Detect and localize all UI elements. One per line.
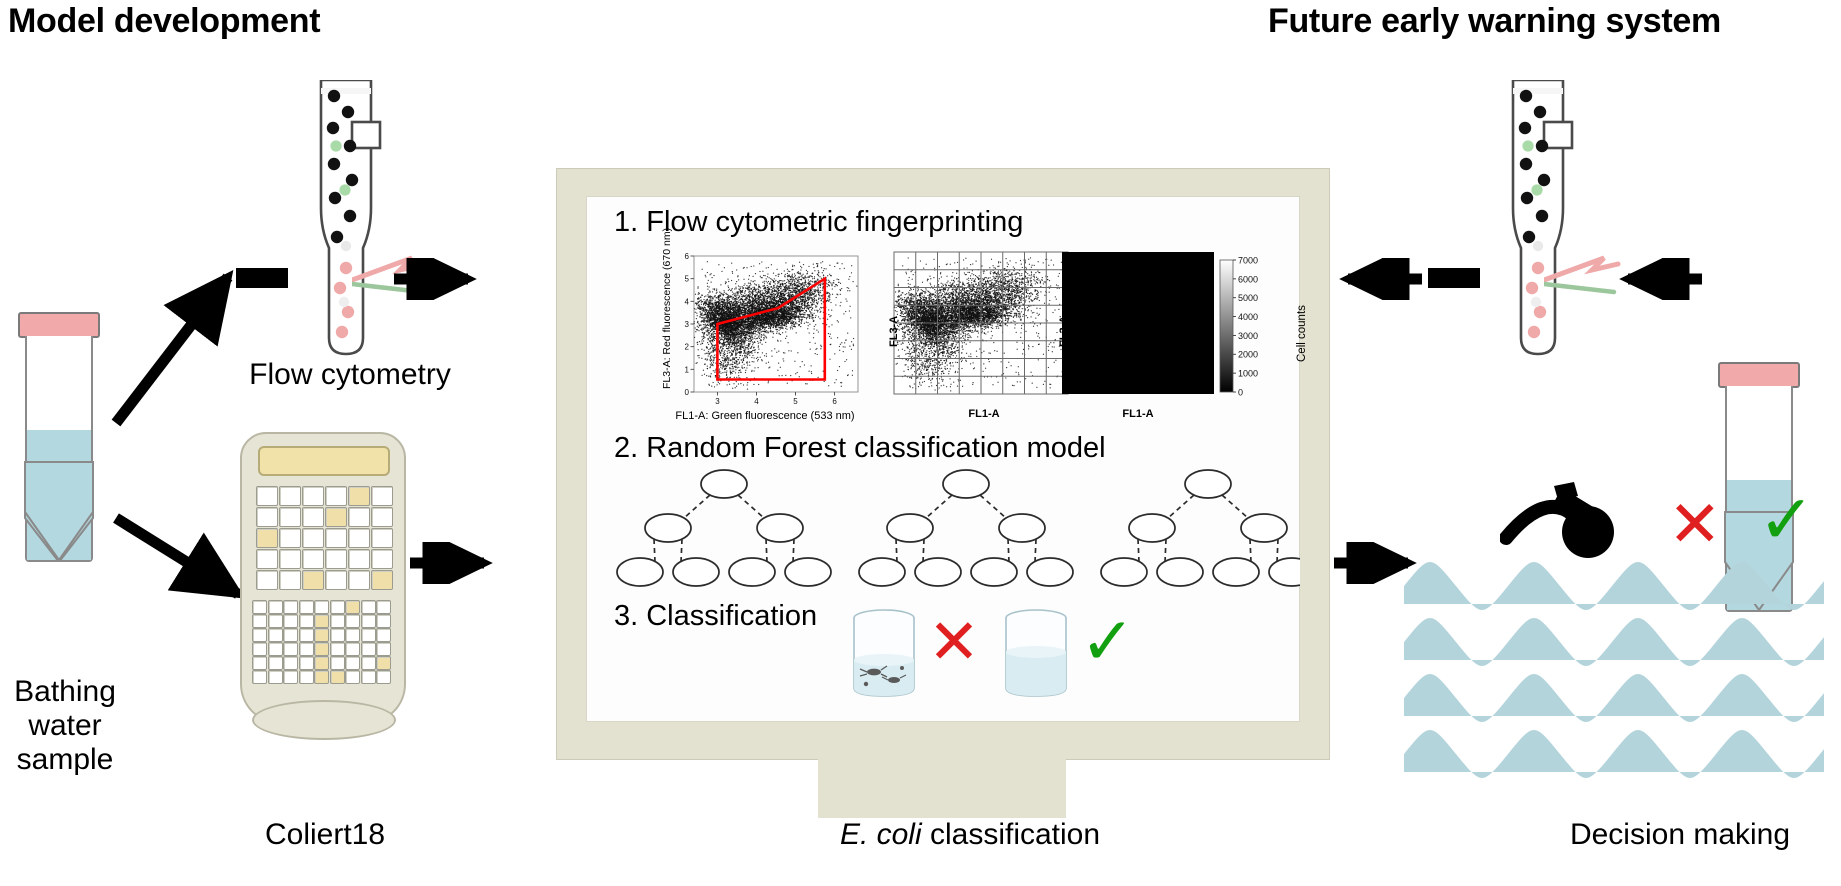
classification-reject-icon: ✕ <box>928 612 980 674</box>
arrow-flow-cytometry-to-monitor <box>392 258 484 300</box>
colilert-well <box>325 486 347 506</box>
colilert-well <box>371 507 393 527</box>
colilert-well <box>325 507 347 527</box>
colilert-well <box>302 528 324 548</box>
colilert-well <box>279 486 301 506</box>
colilert-well <box>361 628 376 642</box>
chart-fcm-heatmap <box>1062 248 1214 404</box>
colilert-well <box>302 486 324 506</box>
colilert-tray <box>240 432 406 724</box>
colilert-well <box>345 642 360 656</box>
colilert-well <box>371 486 393 506</box>
colilert-well <box>345 656 360 670</box>
chart-fcm-heatmap-xlabel: FL1-A <box>1062 408 1214 420</box>
colilert-well <box>376 656 391 670</box>
colilert-well <box>279 528 301 548</box>
bathing-water-tube <box>18 312 100 562</box>
flow-cytometer-right <box>1480 80 1600 370</box>
colilert-well <box>325 549 347 569</box>
colilert-well <box>314 628 329 642</box>
colilert-well <box>348 507 370 527</box>
colilert-well <box>252 670 267 684</box>
swimmer-icon <box>1500 480 1650 590</box>
tube-tip-icon <box>18 312 100 562</box>
colilert-well <box>325 570 347 590</box>
colilert-well <box>376 670 391 684</box>
decision-accept-icon: ✓ <box>1758 486 1815 554</box>
tray-foot <box>252 700 396 740</box>
colilert-well <box>371 549 393 569</box>
colilert-well <box>283 628 298 642</box>
colilert-well <box>302 507 324 527</box>
caption-line-2: water <box>10 709 120 743</box>
colilert-well <box>348 570 370 590</box>
colilert-well <box>376 628 391 642</box>
tray-wells <box>242 434 404 722</box>
colilert-well <box>279 549 301 569</box>
colilert-well <box>314 600 329 614</box>
monitor-stand-neck <box>818 756 1066 818</box>
colilert-well <box>302 549 324 569</box>
colilert-well <box>283 656 298 670</box>
colilert-well <box>252 656 267 670</box>
colilert-well <box>330 670 345 684</box>
colorbar-label: Cell counts <box>1286 288 1302 378</box>
beaker-clean <box>1000 608 1072 700</box>
colilert-well <box>268 600 283 614</box>
caption-line-1: Bathing <box>10 675 120 709</box>
colilert-well <box>361 656 376 670</box>
step-1-title: 1. Flow cytometric fingerprinting <box>614 206 1023 239</box>
step-3-title: 3. Classification <box>614 600 817 633</box>
colilert-well <box>330 628 345 642</box>
colilert-well <box>283 600 298 614</box>
caption-decision-making: Decision making <box>1530 818 1830 852</box>
caption-bathing-water-sample: Bathing water sample <box>10 675 120 777</box>
colilert-well <box>371 570 393 590</box>
colilert-well <box>376 642 391 656</box>
colilert-well <box>325 528 347 548</box>
colilert-well <box>279 507 301 527</box>
colilert-well <box>268 656 283 670</box>
colilert-well <box>268 628 283 642</box>
random-forest-trees <box>600 468 1300 596</box>
colilert-well <box>252 600 267 614</box>
beaker-contaminated <box>848 608 920 700</box>
colilert-well <box>330 614 345 628</box>
arrow-cytometer-to-monitor-right <box>1334 258 1426 300</box>
colilert-well <box>361 600 376 614</box>
arrow-colilert-to-monitor <box>408 542 500 584</box>
chart-fcm-scatter-binned <box>892 248 1072 404</box>
colilert-well <box>330 656 345 670</box>
colilert-well <box>345 600 360 614</box>
colilert-well <box>345 628 360 642</box>
colilert-well <box>345 614 360 628</box>
colilert-well <box>361 614 376 628</box>
caption-ecoli-rest: classification <box>922 818 1100 851</box>
colilert-well <box>283 670 298 684</box>
chart-fcm-scatter-binned-ylabel: FL3-A <box>878 285 894 365</box>
colilert-well <box>299 656 314 670</box>
colilert-well <box>252 642 267 656</box>
colilert-well <box>376 600 391 614</box>
colilert-well <box>299 642 314 656</box>
colilert-well <box>330 600 345 614</box>
colilert-well <box>330 642 345 656</box>
colilert-well <box>256 549 278 569</box>
caption-flow-cytometry: Flow cytometry <box>200 358 500 392</box>
decision-waves <box>1404 560 1824 820</box>
colilert-well <box>283 642 298 656</box>
colilert-well <box>283 614 298 628</box>
colilert-well <box>268 642 283 656</box>
colilert-well <box>252 614 267 628</box>
colilert-well <box>279 570 301 590</box>
colilert-well <box>376 614 391 628</box>
colilert-well <box>314 642 329 656</box>
colilert-well <box>348 549 370 569</box>
caption-ecoli-classification: E. coli classification <box>760 818 1180 852</box>
laser-source-left <box>236 268 288 288</box>
caption-colilert: Coliert18 <box>200 818 450 852</box>
heading-model-development: Model development <box>8 2 320 41</box>
flow-cytometer-left <box>288 80 408 370</box>
colilert-well <box>345 670 360 684</box>
colilert-well <box>256 528 278 548</box>
colilert-well <box>314 614 329 628</box>
caption-line-3: sample <box>10 743 120 777</box>
colilert-well <box>314 670 329 684</box>
colilert-well <box>361 642 376 656</box>
chart-fcm-heatmap-ylabel: FL3-A <box>1048 285 1064 365</box>
colilert-well <box>252 628 267 642</box>
colilert-well <box>299 628 314 642</box>
colilert-well <box>302 570 324 590</box>
colilert-well <box>299 614 314 628</box>
colilert-well <box>299 670 314 684</box>
colilert-well <box>348 486 370 506</box>
laser-source-right <box>1428 268 1480 288</box>
colilert-well <box>268 670 283 684</box>
chart-fcm-scatter-gated-xlabel: FL1-A: Green fluorescence (533 nm) <box>660 410 870 422</box>
colilert-well <box>361 670 376 684</box>
chart-fcm-scatter-gated: 01234563456 <box>648 248 866 418</box>
colilert-well <box>256 507 278 527</box>
arrow-tube-to-flow-cytometry <box>110 255 250 435</box>
colilert-well <box>348 528 370 548</box>
chart-fcm-scatter-gated-ylabel: FL3-A: Red fluorescence (670 nm) <box>650 249 666 389</box>
heading-future-early-warning-system: Future early warning system <box>1268 2 1721 41</box>
colilert-well <box>268 614 283 628</box>
caption-ecoli-italic: E. coli <box>840 818 922 851</box>
chart-fcm-scatter-binned-xlabel: FL1-A <box>900 408 1068 420</box>
classification-accept-icon: ✓ <box>1080 608 1135 674</box>
decision-reject-icon: ✕ <box>1668 492 1722 556</box>
colilert-well <box>314 656 329 670</box>
step-2-title: 2. Random Forest classification model <box>614 432 1106 465</box>
arrow-sample-to-cytometer-right <box>1614 258 1706 300</box>
colilert-well <box>371 528 393 548</box>
colilert-well <box>256 486 278 506</box>
colilert-well <box>256 570 278 590</box>
colilert-well <box>299 600 314 614</box>
